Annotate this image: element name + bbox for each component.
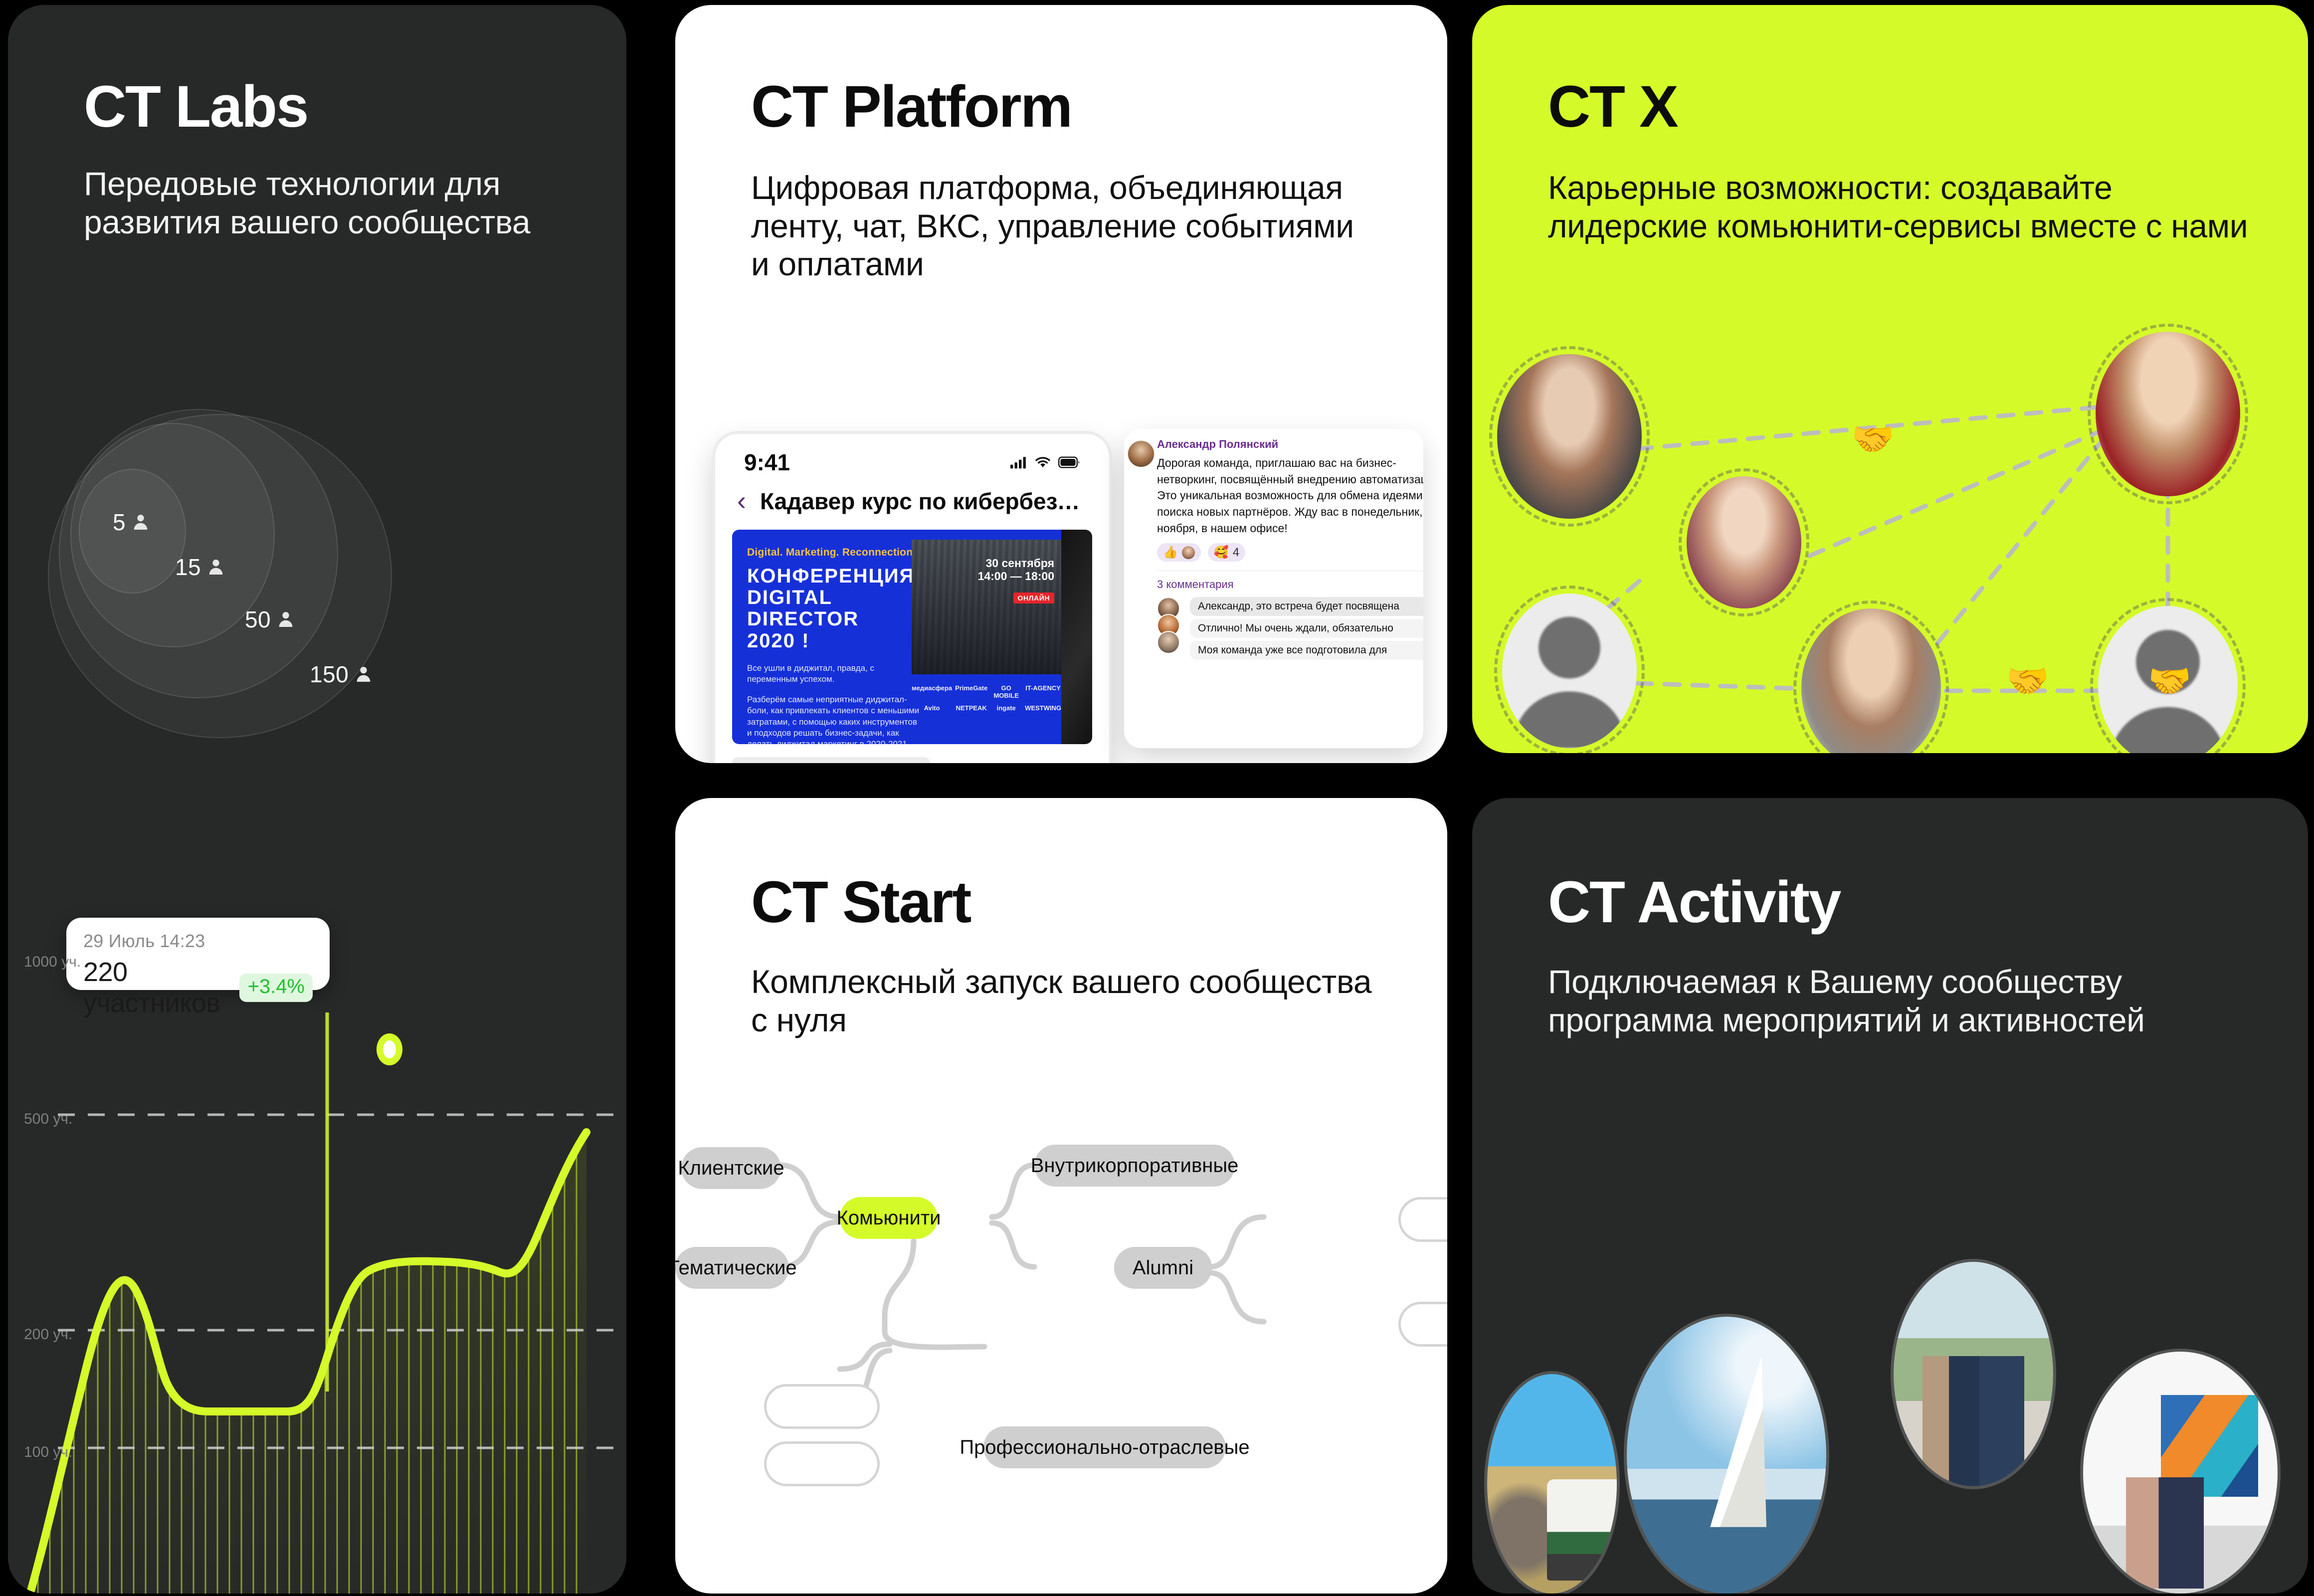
- network-node-man-beard[interactable]: [1801, 608, 1941, 753]
- sponsor-logo: NETPEAK: [955, 704, 987, 712]
- post-reactions[interactable]: 👍 🥰 4: [1157, 543, 1423, 562]
- poster-body-2: Разберём самые неприятные диджитал-боли,…: [747, 694, 922, 744]
- ytick-100: 100 уч.: [24, 1444, 72, 1461]
- card-ct-labs[interactable]: CT Labs Передовые технологии для развити…: [8, 5, 626, 1594]
- ytick-500: 500 уч.: [24, 1111, 72, 1128]
- phone-mockup: 9:41: [715, 434, 1109, 763]
- tooltip-date: 29 Июль 14:23: [83, 931, 313, 952]
- avatar-placeholder-icon: [1502, 594, 1637, 748]
- poster-line-1: КОНФЕРЕНЦИЯ: [747, 566, 922, 587]
- signal-icon: [1010, 454, 1027, 471]
- thumbsup-icon: 👍: [1163, 545, 1178, 560]
- comments-list: Александр, это встреча будет посвящена О…: [1157, 597, 1423, 660]
- photo-safari[interactable]: [1487, 1374, 1617, 1594]
- sponsor-logo: PrimeGate: [955, 684, 987, 699]
- phone-nav-bar: ‹ Кадавер курс по кибербезопа…: [715, 479, 1109, 527]
- comments-header: 3 комментария: [1157, 578, 1423, 591]
- comment-avatar: [1157, 631, 1180, 654]
- battery-icon: [1058, 454, 1080, 471]
- bubble-label-150: 150: [310, 661, 374, 688]
- ct-activity-subtitle: Подключаемая к Вашему сообществу програм…: [1548, 963, 2271, 1039]
- poster-line-2: DIGITAL DIRECTOR: [747, 587, 922, 630]
- network-node-woman-dark[interactable]: [1497, 354, 1642, 519]
- bubble-value-5: 5: [113, 509, 126, 536]
- poster-kicker: Digital. Marketing. Reconnection: [747, 547, 922, 559]
- avatar-image: [1687, 476, 1801, 608]
- comment-item: Отлично! Мы очень ждали, обязательно: [1190, 619, 1423, 638]
- poster-photo: 30 сентября 14:00 — 18:00 ОНЛАЙН: [912, 540, 1061, 674]
- dashboard-grid: CT Labs Передовые технологии для развити…: [0, 0, 2314, 1596]
- handshake-icon: 🤝: [1851, 421, 1895, 456]
- avatar-image: [2096, 332, 2240, 496]
- mindmap-node-thematic[interactable]: Тематические: [675, 1247, 789, 1289]
- network-graph: 🤝 🤝 🤝: [1472, 304, 2308, 753]
- person-icon: [206, 557, 226, 577]
- post-author: Александр Полянский: [1157, 438, 1423, 451]
- reaction-thumbsup[interactable]: 👍: [1157, 543, 1201, 562]
- tooltip-change-badge: +3.4%: [239, 974, 313, 1002]
- participants-area-chart: 1000 уч. 500 уч. 200 уч. 100 уч.: [8, 1012, 626, 1594]
- mindmap-node-empty[interactable]: [1398, 1197, 1447, 1242]
- chevron-left-icon[interactable]: ‹: [737, 490, 746, 512]
- person-icon: [354, 664, 374, 684]
- chart-marker-dot[interactable]: [375, 1032, 404, 1072]
- post-message: Дорогая команда, приглашаю вас на бизнес…: [1157, 455, 1423, 536]
- sponsor-logo: IT-AGENCY: [1025, 684, 1061, 699]
- phone-screen-title: Кадавер курс по кибербезопа…: [760, 488, 1087, 515]
- activity-photo-cluster: [1472, 1262, 2308, 1594]
- post-secondary-media: [1061, 530, 1092, 744]
- poster-sponsor-logos: медиасфера PrimeGate GO MOBILE IT-AGENCY…: [912, 684, 1061, 712]
- poster-body-1: Все ушли в диджитал, правда, с переменны…: [747, 663, 922, 685]
- network-node-man-red[interactable]: [2096, 332, 2240, 496]
- bubble-chart: 5 15 50 150: [48, 409, 447, 738]
- photo-yacht[interactable]: [1627, 1317, 1826, 1594]
- status-time: 9:41: [744, 449, 790, 476]
- mindmap-node-professional[interactable]: Профессионально-отраслевые: [983, 1426, 1226, 1468]
- photo-gallery[interactable]: [2083, 1352, 2278, 1594]
- ct-labs-title: CT Labs: [84, 77, 308, 136]
- mindmap-node-internal[interactable]: Внутрикорпоративные: [1034, 1145, 1235, 1187]
- poster-online-badge: ОНЛАЙН: [1013, 593, 1054, 603]
- card-ct-platform[interactable]: CT Platform Цифровая платформа, объединя…: [675, 5, 1447, 763]
- wifi-icon: [1034, 454, 1051, 471]
- chart-tooltip: 29 Июль 14:23 220 участников +3.4%: [66, 918, 330, 990]
- event-poster: Digital. Marketing. Reconnection КОНФЕРЕ…: [732, 530, 1061, 744]
- mindmap-node-alumni[interactable]: Alumni: [1114, 1247, 1212, 1289]
- mindmap-node-empty[interactable]: [1398, 1302, 1447, 1347]
- bubble-value-15: 15: [175, 554, 201, 581]
- reaction-count: 4: [1233, 546, 1239, 560]
- person-icon: [276, 609, 296, 629]
- poster-time: 14:00 — 18:00: [978, 570, 1054, 583]
- poster-date: 30 сентября: [978, 557, 1054, 570]
- network-node-woman-pink[interactable]: [1687, 476, 1801, 608]
- ct-activity-title: CT Activity: [1548, 873, 1840, 932]
- mindmap-node-empty[interactable]: [764, 1441, 880, 1486]
- mindmap-node-center[interactable]: Комьюнити: [840, 1197, 938, 1239]
- ct-platform-title: CT Platform: [751, 77, 1072, 136]
- avatar: [1127, 440, 1155, 468]
- tooltip-value: 220 участников: [83, 957, 230, 1018]
- comment-item: Моя команда уже все подготовила для: [1190, 641, 1423, 660]
- ytick-200: 200 уч.: [24, 1326, 72, 1343]
- phone-status-bar: 9:41: [715, 434, 1109, 479]
- bubble-label-5: 5: [113, 509, 151, 536]
- poster-date-time: 30 сентября 14:00 — 18:00: [978, 557, 1054, 583]
- ct-start-subtitle: Комплексный запуск вашего сообщества с н…: [751, 963, 1389, 1039]
- phone-post[interactable]: Digital. Marketing. Reconnection КОНФЕРЕ…: [732, 530, 1092, 744]
- smiling-hearts-icon: 🥰: [1214, 545, 1229, 560]
- photo-networking[interactable]: [1894, 1262, 2053, 1486]
- handshake-icon: 🤝: [2006, 663, 2049, 698]
- mindmap-node-clients[interactable]: Клиентские: [681, 1147, 781, 1189]
- ct-labs-subtitle: Передовые технологии для развития вашего…: [84, 165, 573, 241]
- network-node-placeholder-left[interactable]: [1502, 594, 1637, 748]
- ytick-1000: 1000 уч.: [24, 954, 81, 971]
- sponsor-logo: GO MOBILE: [990, 684, 1022, 699]
- bubble-value-150: 150: [310, 661, 349, 688]
- mindmap: Клиентские Комьюнити Внутрикорпоративные…: [675, 1117, 1447, 1594]
- mindmap-connectors: [675, 1117, 1447, 1594]
- poster-line-3: 2020 !: [747, 630, 922, 652]
- avatar-image: [1497, 354, 1642, 519]
- comment-item: Александр, это встреча будет посвящена: [1190, 597, 1423, 616]
- card-ct-activity[interactable]: CT Activity Подключаемая к Вашему сообще…: [1472, 798, 2308, 1594]
- ct-x-subtitle: Карьерные возможности: создавайте лидерс…: [1548, 169, 2256, 245]
- bubble-value-50: 50: [245, 606, 271, 633]
- card-ct-x[interactable]: CT X Карьерные возможности: создавайте л…: [1472, 5, 2308, 753]
- sponsor-logo: медиасфера: [912, 684, 952, 699]
- bubble-label-15: 15: [175, 554, 226, 581]
- reaction-hearts[interactable]: 🥰 4: [1208, 543, 1245, 562]
- sponsor-logo: ingate: [990, 704, 1022, 712]
- sponsor-logo: Avito: [912, 704, 952, 712]
- feed-post-card[interactable]: Александр Полянский Дорогая команда, при…: [1124, 429, 1423, 748]
- handshake-icon: 🤝: [2148, 663, 2191, 698]
- divider: [1157, 571, 1423, 571]
- event-time-chip: СБ. 10 МАЯ В 20:00 по МСК: [732, 757, 930, 763]
- ct-x-title: CT X: [1548, 77, 1677, 136]
- sponsor-logo: WESTWING: [1025, 704, 1061, 712]
- ct-platform-subtitle: Цифровая платформа, объединяющая ленту, …: [751, 169, 1379, 283]
- reaction-avatar: [1182, 546, 1195, 559]
- bubble-label-50: 50: [245, 606, 296, 633]
- mindmap-node-empty[interactable]: [764, 1384, 880, 1429]
- card-ct-start[interactable]: CT Start Комплексный запуск вашего сообщ…: [675, 798, 1447, 1594]
- ct-start-title: CT Start: [751, 873, 970, 932]
- person-icon: [131, 512, 151, 532]
